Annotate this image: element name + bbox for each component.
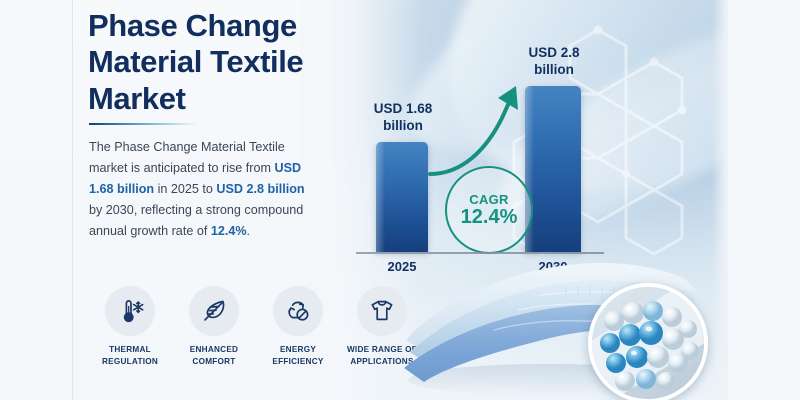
bar-2025 bbox=[376, 142, 428, 252]
panel-edge-line bbox=[72, 0, 73, 400]
highlight-value-2030: USD 2.8 billion bbox=[216, 182, 304, 196]
feature-item-thermal-regulation: THERMAL REGULATION bbox=[88, 286, 172, 367]
feature-label: ENERGY EFFICIENCY bbox=[256, 344, 340, 367]
feature-item-energy-efficiency: ENERGY EFFICIENCY bbox=[256, 286, 340, 367]
bar-value-label-2030-line1: USD 2.8 bbox=[508, 44, 600, 61]
infographic-canvas: Phase Change Material Textile Market The… bbox=[0, 0, 800, 400]
growth-arrow-icon bbox=[428, 70, 548, 180]
pcm-microcapsule-inset bbox=[588, 283, 708, 400]
summary-text-2: in 2025 to bbox=[154, 182, 216, 196]
bar-highlight bbox=[376, 142, 385, 252]
cagr-badge: CAGR 12.4% bbox=[445, 166, 533, 254]
title-divider bbox=[89, 123, 197, 125]
feature-list: THERMAL REGULATION ENHANCED COMFORT bbox=[88, 286, 424, 367]
feather-icon bbox=[189, 286, 239, 336]
cagr-label: CAGR bbox=[469, 192, 508, 207]
summary-text-4: . bbox=[247, 224, 251, 238]
page-title: Phase Change Material Textile Market bbox=[88, 8, 338, 117]
feature-item-enhanced-comfort: ENHANCED COMFORT bbox=[172, 286, 256, 367]
summary-paragraph: The Phase Change Material Textile market… bbox=[89, 137, 321, 242]
thermometer-snowflake-icon bbox=[105, 286, 155, 336]
feature-label: THERMAL REGULATION bbox=[88, 344, 172, 367]
highlight-cagr: 12.4% bbox=[211, 224, 247, 238]
feature-label: ENHANCED COMFORT bbox=[172, 344, 256, 367]
cagr-value: 12.4% bbox=[461, 206, 518, 229]
summary-text-1: The Phase Change Material Textile market… bbox=[89, 140, 285, 175]
summary-text-3: by 2030, reflecting a strong compound an… bbox=[89, 203, 303, 238]
recycle-leaf-icon bbox=[273, 286, 323, 336]
